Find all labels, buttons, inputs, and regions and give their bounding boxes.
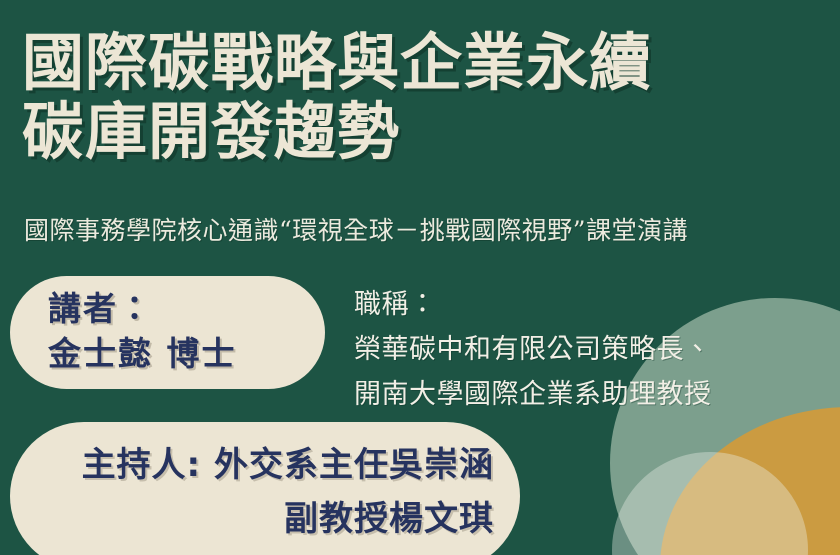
host-line-2: 副教授楊文琪 <box>32 492 494 546</box>
title-line-1: 國際碳戰略與企業永續 <box>22 28 832 97</box>
position-label: 職稱： <box>354 282 824 327</box>
host-pill: 主持人: 外交系主任吳崇涵 副教授楊文琪 <box>10 422 520 555</box>
light-circle-decoration <box>612 452 808 555</box>
position-line-1: 榮華碳中和有限公司策略長、 <box>354 327 824 372</box>
title-line-2: 碳庫開發趨勢 <box>22 97 832 166</box>
page-title: 國際碳戰略與企業永續 碳庫開發趨勢 <box>22 28 832 166</box>
speaker-pill: 講者： 金士懿 博士 <box>10 276 325 389</box>
page-subtitle: 國際事務學院核心通識“環視全球－挑戰國際視野”課堂演講 <box>24 214 688 248</box>
gold-wedge-decoration <box>660 407 840 555</box>
position-block: 職稱： 榮華碳中和有限公司策略長、 開南大學國際企業系助理教授 <box>354 282 824 417</box>
speaker-label: 講者： <box>48 286 325 331</box>
event-poster: 國際碳戰略與企業永續 碳庫開發趨勢 國際事務學院核心通識“環視全球－挑戰國際視野… <box>0 0 840 555</box>
host-line-1: 主持人: 外交系主任吳崇涵 <box>32 438 494 492</box>
speaker-name: 金士懿 博士 <box>48 331 325 376</box>
position-line-2: 開南大學國際企業系助理教授 <box>354 372 824 417</box>
